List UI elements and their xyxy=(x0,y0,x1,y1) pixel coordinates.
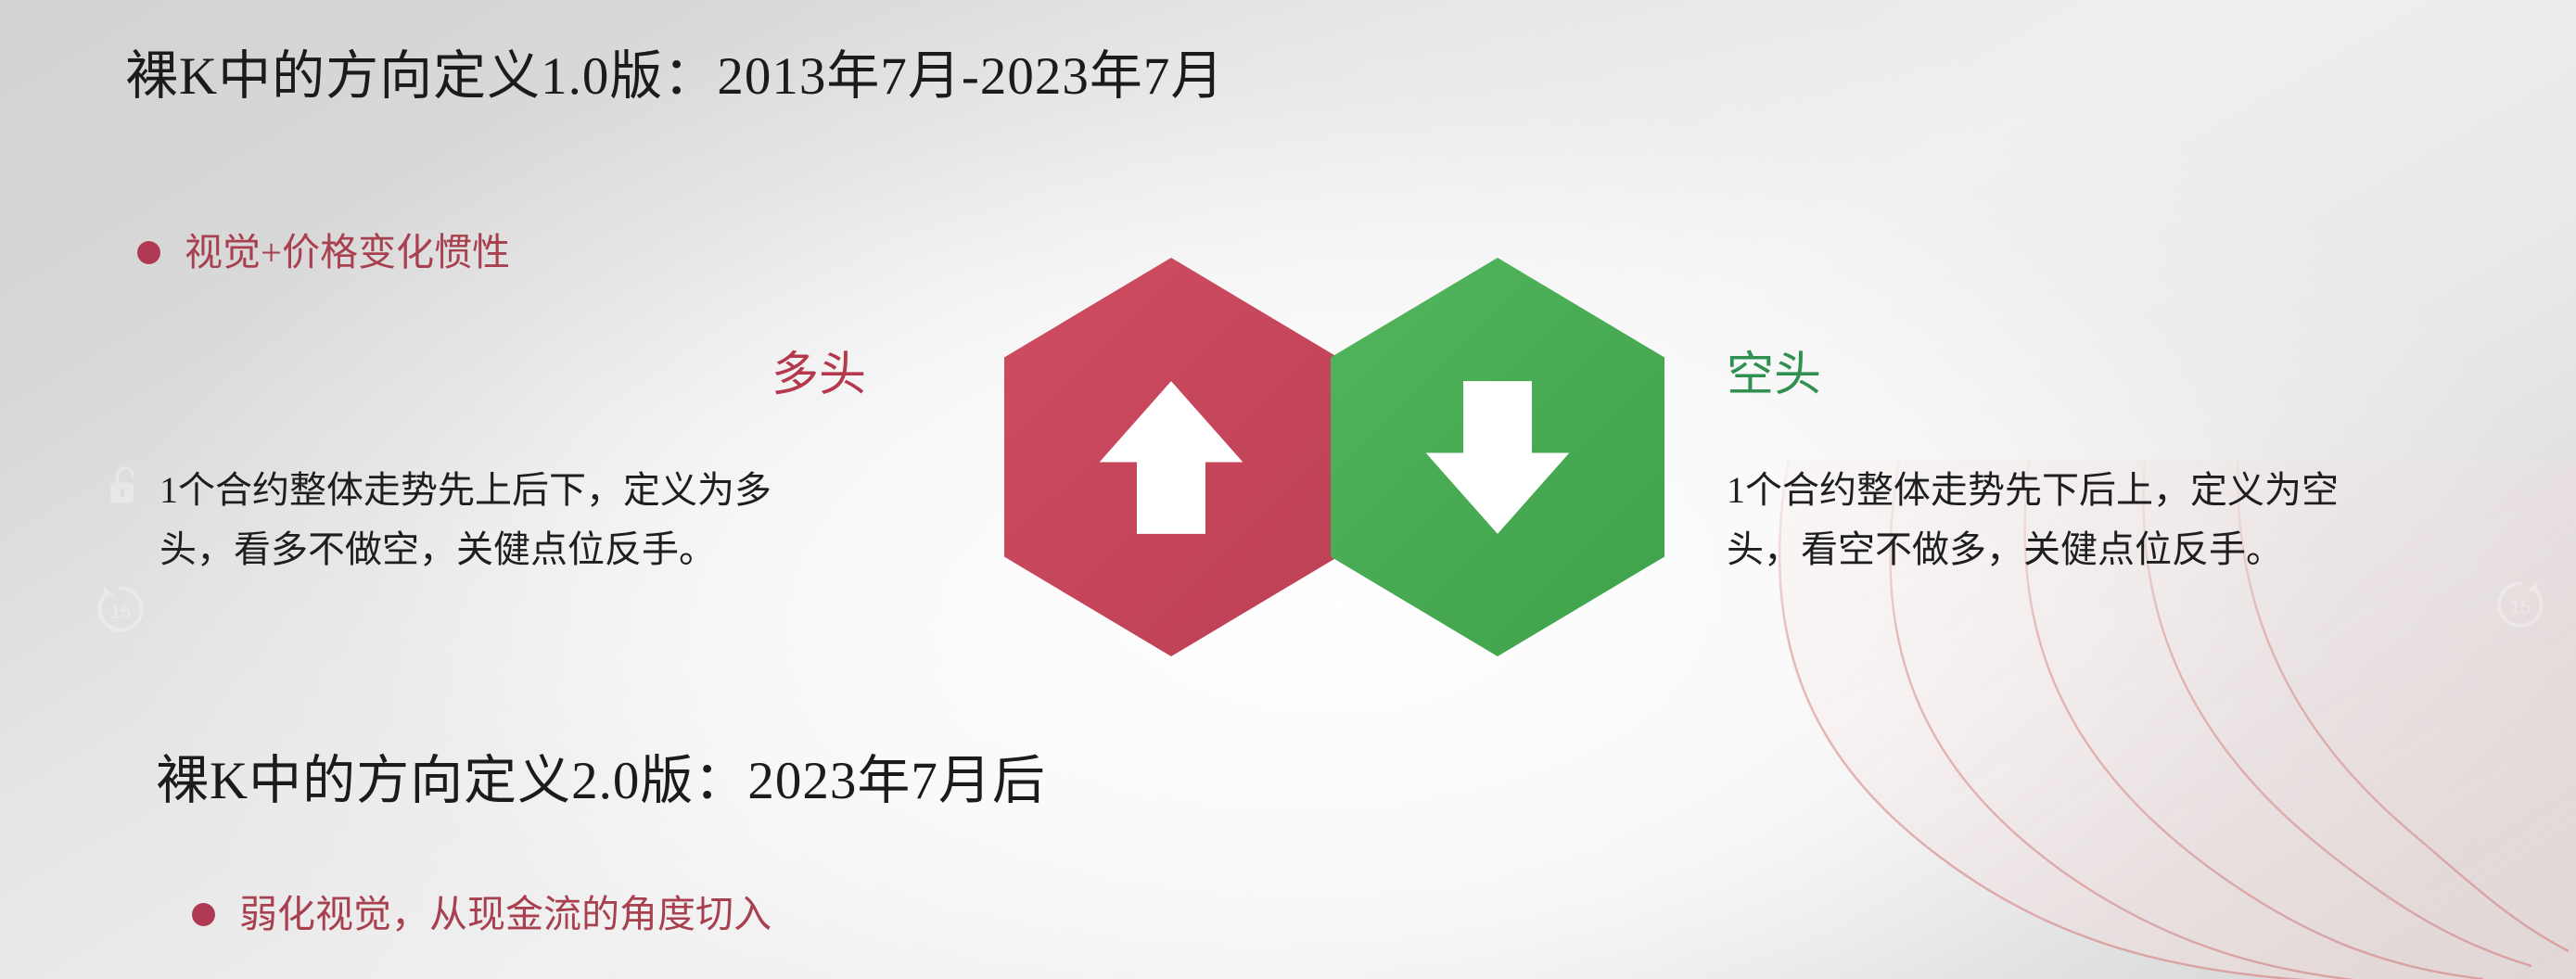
hexagon-diagram xyxy=(1004,258,1664,656)
bullet-row-v1: 视觉+价格变化惯性 xyxy=(137,234,510,272)
bullet-label-v2: 弱化视觉，从现金流的角度切入 xyxy=(239,896,772,934)
bullet-dot-icon xyxy=(137,241,160,264)
short-position-label: 空头 xyxy=(1727,352,1821,400)
bullet-dot-icon xyxy=(192,903,215,926)
long-position-definition: 1个合约整体走势先上后下，定义为多 头，看多不做空，关健点位反手。 xyxy=(159,461,976,579)
bullet-label-v1: 视觉+价格变化惯性 xyxy=(185,234,510,272)
lock-open-icon[interactable] xyxy=(106,464,143,508)
short-definition-line-1: 1个合约整体走势先下后上，定义为空 xyxy=(1727,461,2543,520)
svg-text:15: 15 xyxy=(110,602,131,622)
hexagon-long-red xyxy=(1004,258,1338,656)
long-definition-line-2: 头，看多不做空，关健点位反手。 xyxy=(159,520,976,579)
short-position-definition: 1个合约整体走势先下后上，定义为空 头，看空不做多，关健点位反手。 xyxy=(1727,461,2543,579)
slide-canvas: 15 15 裸K中的方向定义1.0版：2013年7月-2023年7月 视觉+价格… xyxy=(0,0,2576,979)
hexagon-short-green xyxy=(1331,258,1664,656)
long-definition-line-1: 1个合约整体走势先上后下，定义为多 xyxy=(159,461,976,520)
arrow-up-icon xyxy=(1092,372,1250,543)
long-position-label: 多头 xyxy=(772,352,866,400)
svg-text:15: 15 xyxy=(2510,597,2531,617)
section-title-v1: 裸K中的方向定义1.0版：2013年7月-2023年7月 xyxy=(125,48,1224,107)
bullet-row-v2: 弱化视觉，从现金流的角度切入 xyxy=(192,896,772,934)
forward-15-icon[interactable]: 15 xyxy=(2491,575,2550,634)
rewind-15-icon[interactable]: 15 xyxy=(91,579,150,639)
section-title-v2: 裸K中的方向定义2.0版：2023年7月后 xyxy=(156,753,1046,811)
short-definition-line-2: 头，看空不做多，关健点位反手。 xyxy=(1727,520,2543,579)
arrow-down-icon xyxy=(1419,372,1576,543)
